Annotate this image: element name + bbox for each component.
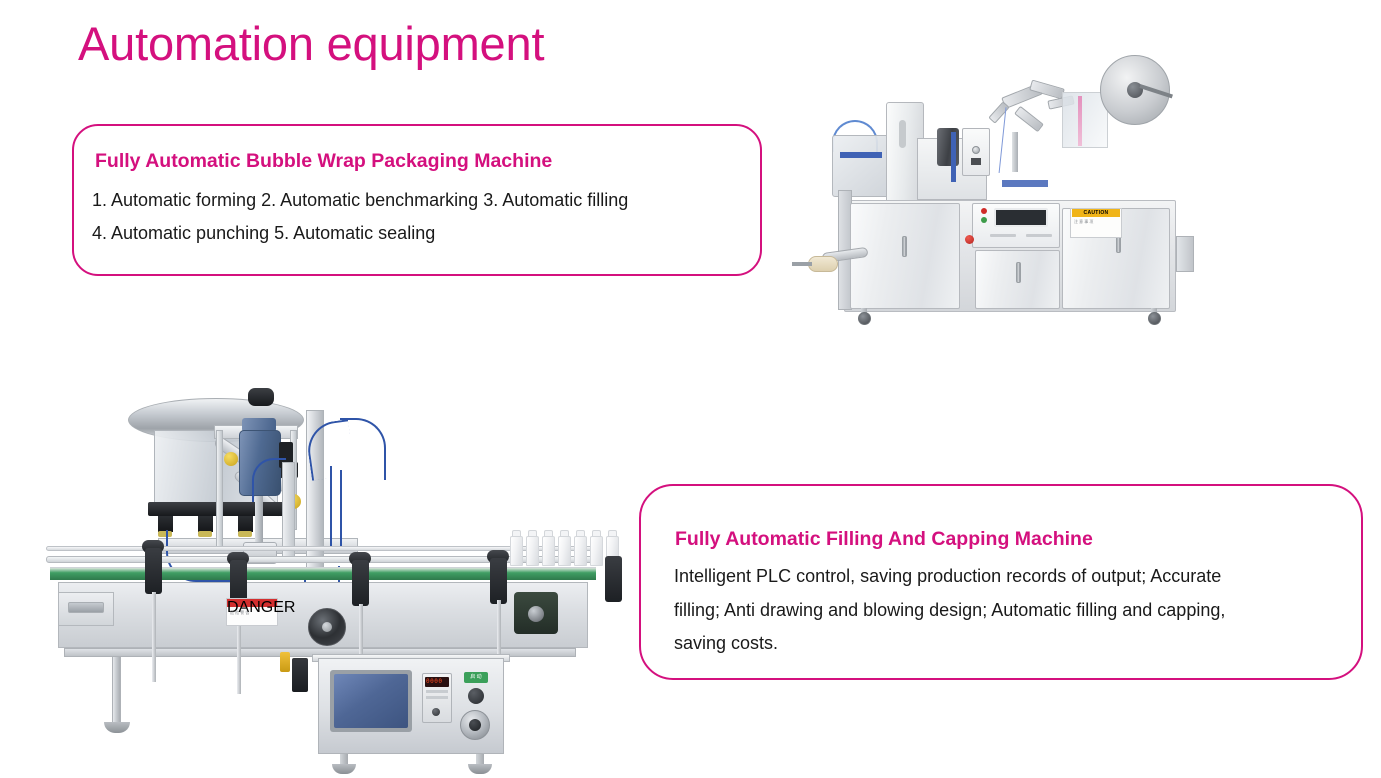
controller-label-row [426,696,448,699]
bottle-cap [608,530,617,537]
bottle-cap [560,530,569,537]
bottle-cap [576,530,585,537]
machine-tower-slot [899,120,906,148]
capping-head-knob [248,388,274,406]
callout-line: filling; Anti drawing and blowing design… [674,594,1299,628]
bottle [510,536,523,566]
drive-pulley-hub [322,622,332,632]
machine-caster-wheel [1148,312,1161,325]
pneumatic-tube [330,466,332,548]
machine-film-roller [808,256,838,272]
callout-body: Intelligent PLC control, saving producti… [674,560,1299,661]
wiring-duct [292,658,308,692]
conveyor-infeed-slot [68,602,104,613]
machine-vent [1026,234,1052,237]
start-label: 启 动 [464,672,488,683]
callout-line: Intelligent PLC control, saving producti… [674,560,1299,594]
bottle-cap [544,530,553,537]
bottle [558,536,571,566]
danger-label-body: 危 险 警 告 [230,610,274,616]
rail-post [152,592,156,682]
callout-title: Fully Automatic Bubble Wrap Packaging Ma… [95,150,552,173]
selector-switch [468,688,484,704]
machine-roller-shaft [792,262,812,266]
sensor-bracket [280,652,290,672]
leveling-foot [332,764,356,774]
controller-button [432,708,440,716]
adjustment-knob [224,452,238,466]
bottle [590,536,603,566]
callout-line: 1. Automatic forming 2. Automatic benchm… [92,184,752,217]
bearing-hub [528,606,544,622]
callout-line: 4. Automatic punching 5. Automatic seali… [92,217,752,250]
bottle [542,536,555,566]
machine-vent [990,234,1016,237]
filling-capping-line-photo: DANGER 危 险 警 告 0000 启 动 [40,370,660,770]
bowl-feeder-foot [238,516,253,532]
hmi-touchscreen [334,674,408,728]
bottle-cap [512,530,521,537]
slide-canvas: Automation equipment Fully Automatic Bub… [0,0,1381,778]
conveyor-leg [112,656,121,726]
machine-feed-unit [832,135,890,197]
bottle [574,536,587,566]
machine-blue-accent [951,132,956,182]
callout-filling-and-capping-machine: Fully Automatic Filling And Capping Mach… [639,484,1363,680]
start-button-icon [981,217,987,223]
machine-caster-wheel [858,312,871,325]
machine-outfeed-chute [1176,236,1194,272]
caution-label-heading: CAUTION [1072,209,1120,217]
bottle [526,536,539,566]
pneumatic-tube [340,418,386,480]
pneumatic-tube [340,470,342,548]
callout-line: saving costs. [674,627,1299,661]
callout-content: Fully Automatic Bubble Wrap Packaging Ma… [74,126,760,274]
machine-film-web [1078,96,1082,146]
emergency-stop-icon [965,235,974,244]
capping-spindle [255,496,263,548]
conveyor-belt [50,567,596,580]
rail-clamp [352,560,369,606]
machine-blue-tube [999,107,1024,175]
machine-door-handle [902,236,907,257]
callout-body: 1. Automatic forming 2. Automatic benchm… [92,184,752,250]
callout-bubble-wrap-packaging-machine: Fully Automatic Bubble Wrap Packaging Ma… [72,124,762,276]
callout-title: Fully Automatic Filling And Capping Mach… [675,528,1093,551]
leveling-foot [104,722,130,733]
machine-blue-accent [1002,180,1048,187]
machine-control-knob [972,146,980,154]
bottle-cap [592,530,601,537]
rail-clamp [605,556,622,602]
led-display-value: 0000 [426,678,448,686]
blister-packaging-machine-photo: CAUTION 注 意 事 项 [762,40,1202,352]
machine-blue-accent [840,152,882,158]
machine-pneumatic-cylinder [1012,132,1018,172]
rail-clamp [145,548,162,594]
machine-door-handle [1016,262,1021,283]
machine-control-display [971,158,981,165]
page-title: Automation equipment [78,16,544,71]
speed-knob-center [469,719,481,731]
danger-label-heading: DANGER [227,599,277,607]
caution-label-body: 注 意 事 项 [1074,219,1118,225]
bottle-cap [528,530,537,537]
leveling-foot [468,764,492,774]
controller-label-row [426,690,448,693]
machine-touchscreen [994,208,1048,227]
callout-content: Fully Automatic Filling And Capping Mach… [641,486,1361,678]
rail-clamp [490,558,507,604]
emergency-stop-icon [981,208,987,214]
bowl-feeder-pad [238,531,252,537]
pneumatic-tube [252,458,286,502]
